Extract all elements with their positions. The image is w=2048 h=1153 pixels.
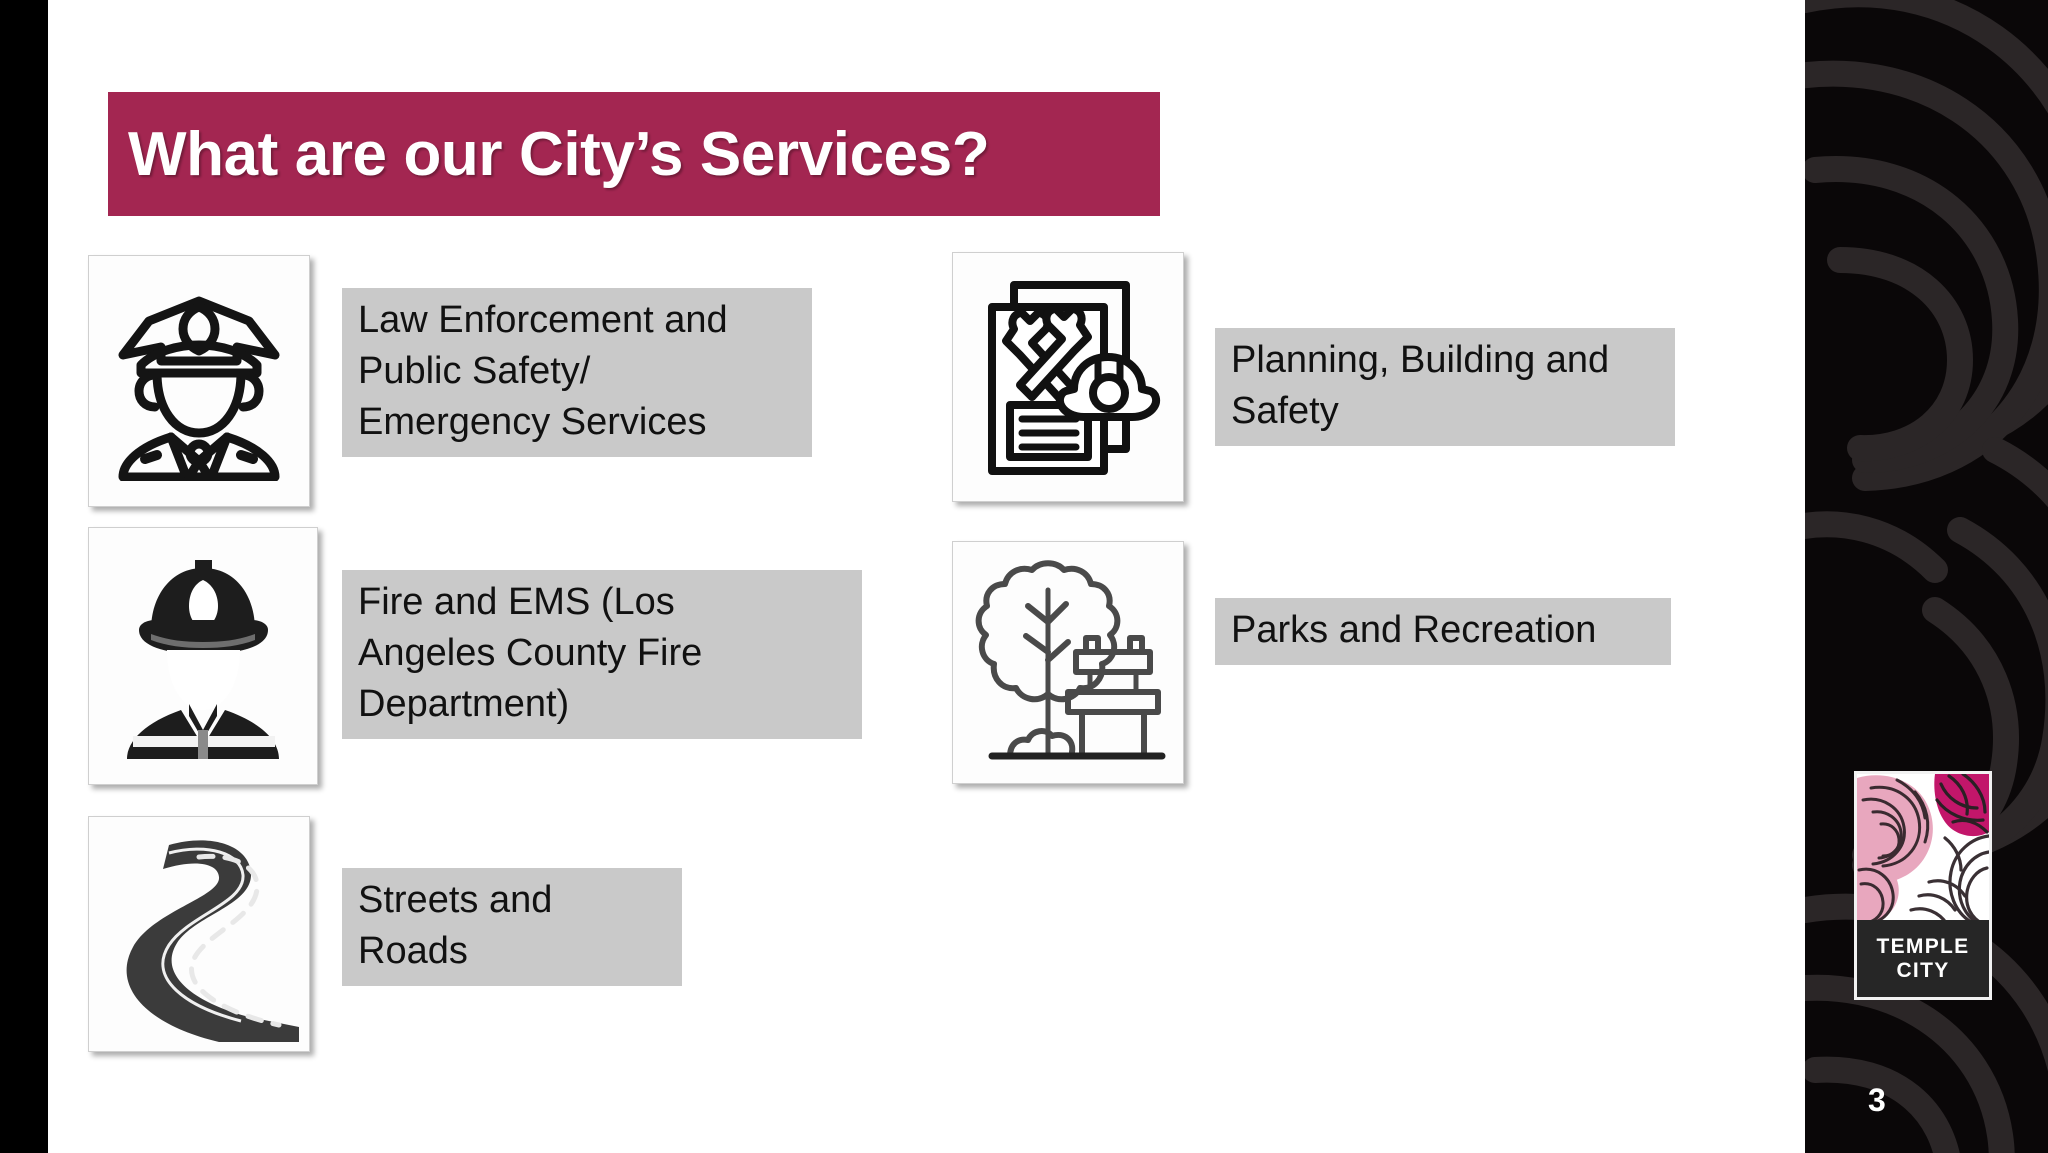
firefighter-icon	[111, 554, 296, 759]
slide: What are our City’s Services?	[0, 0, 2048, 1153]
police-officer-icon	[109, 281, 289, 481]
logo-line-temple: TEMPLE	[1877, 935, 1970, 958]
police-officer-icon-tile[interactable]	[88, 255, 310, 507]
service-label-streets-roads: Streets and Roads	[342, 868, 682, 986]
logo-wordmark: TEMPLE CITY	[1857, 920, 1989, 997]
building-plans-hardhat-icon	[970, 271, 1166, 483]
winding-road-icon	[99, 827, 299, 1042]
page-title: What are our City’s Services?	[108, 119, 989, 190]
temple-city-logo: TEMPLE CITY	[1854, 771, 1992, 1000]
building-plans-hardhat-icon-tile[interactable]	[952, 252, 1184, 502]
tree-and-bench-icon	[970, 560, 1166, 765]
service-label-planning-building: Planning, Building and Safety	[1215, 328, 1675, 446]
page-number: 3	[1868, 1082, 1886, 1119]
tree-and-bench-icon-tile[interactable]	[952, 541, 1184, 784]
firefighter-icon-tile[interactable]	[88, 527, 318, 785]
service-label-parks-recreation: Parks and Recreation	[1215, 598, 1671, 665]
service-label-law-enforcement: Law Enforcement and Public Safety/ Emerg…	[342, 288, 812, 457]
logo-line-city: CITY	[1896, 959, 1949, 982]
winding-road-icon-tile[interactable]	[88, 816, 310, 1052]
slide-title-banner: What are our City’s Services?	[108, 92, 1160, 216]
logo-rose-artwork	[1857, 774, 1989, 926]
service-label-fire-ems: Fire and EMS (Los Angeles County Fire De…	[342, 570, 862, 739]
